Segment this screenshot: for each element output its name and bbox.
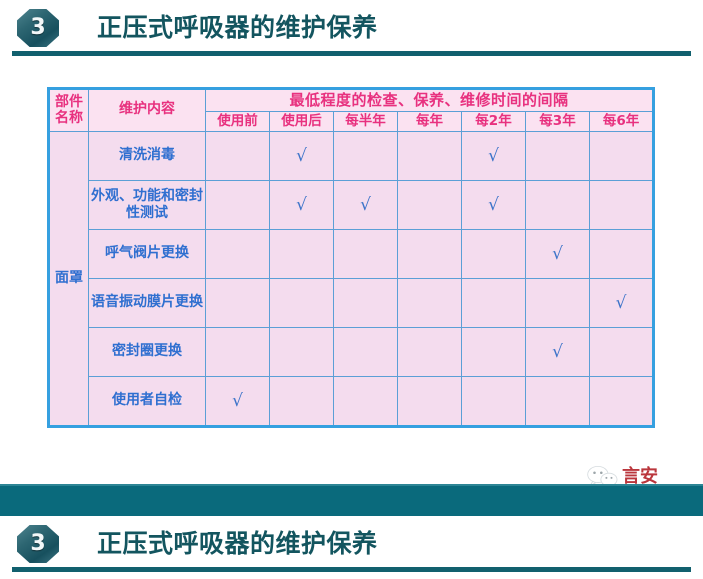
- slide-number-1: 3: [30, 17, 45, 39]
- table-row: 使用者自检 √: [49, 376, 654, 426]
- table-header-row-1: 部件名称 维护内容 最低程度的检查、保养、维修时间的间隔: [49, 89, 654, 112]
- mark-cell-r1c0: [206, 180, 270, 229]
- mark-cell-r1c2: √: [334, 180, 398, 229]
- header-interval-before-use: 使用前: [206, 111, 270, 131]
- header-interval-group: 最低程度的检查、保养、维修时间的间隔: [206, 89, 654, 112]
- maintenance-item: 呼气阀片更换: [89, 229, 206, 278]
- header-interval-every-6-years: 每6年: [590, 111, 654, 131]
- table-row: 面罩 清洗消毒 √ √: [49, 131, 654, 180]
- mark-cell-r2c3: [398, 229, 462, 278]
- mark-cell-r4c0: [206, 327, 270, 376]
- mark-cell-r2c5: √: [526, 229, 590, 278]
- tick-r1c4: √: [488, 195, 499, 215]
- tick-r3c6: √: [616, 293, 627, 313]
- mark-cell-r5c0: √: [206, 376, 270, 426]
- title-underline-2: [12, 567, 691, 572]
- mark-cell-r2c6: [590, 229, 654, 278]
- mark-cell-r0c5: [526, 131, 590, 180]
- slide-title-2: 正压式呼吸器的维护保养: [97, 525, 378, 563]
- slide-header-2: 3 正压式呼吸器的维护保养: [0, 516, 703, 574]
- mark-cell-r4c5: √: [526, 327, 590, 376]
- header-interval-every-year: 每年: [398, 111, 462, 131]
- mark-cell-r3c6: √: [590, 278, 654, 327]
- mark-cell-r3c2: [334, 278, 398, 327]
- tick-r5c0: √: [232, 391, 243, 411]
- mark-cell-r5c2: [334, 376, 398, 426]
- maintenance-item: 使用者自检: [89, 376, 206, 426]
- header-part-name: 部件名称: [49, 89, 89, 132]
- mark-cell-r5c5: [526, 376, 590, 426]
- header-maintenance-content: 维护内容: [89, 89, 206, 132]
- part-name-facepiece: 面罩: [49, 131, 89, 426]
- mark-cell-r1c5: [526, 180, 590, 229]
- mark-cell-r4c1: [270, 327, 334, 376]
- header-interval-half-year: 每半年: [334, 111, 398, 131]
- slide-number-badge-1: 3: [17, 9, 59, 47]
- mark-cell-r0c1: √: [270, 131, 334, 180]
- slide-header-1: 3 正压式呼吸器的维护保养: [0, 0, 703, 58]
- mark-cell-r0c3: [398, 131, 462, 180]
- mark-cell-r5c6: [590, 376, 654, 426]
- tick-r4c5: √: [552, 342, 563, 362]
- mark-cell-r1c1: √: [270, 180, 334, 229]
- mark-cell-r3c5: [526, 278, 590, 327]
- header-interval-every-2-years: 每2年: [462, 111, 526, 131]
- mark-cell-r3c1: [270, 278, 334, 327]
- mark-cell-r0c0: [206, 131, 270, 180]
- tick-r0c1: √: [296, 146, 307, 166]
- mark-cell-r3c3: [398, 278, 462, 327]
- slide-title-1: 正压式呼吸器的维护保养: [97, 9, 378, 47]
- presentation-page: 3 正压式呼吸器的维护保养 部件名称 维护内容 最低程度的检查、保养、维修时间的…: [0, 0, 703, 579]
- header-interval-after-use: 使用后: [270, 111, 334, 131]
- maintenance-item: 密封圈更换: [89, 327, 206, 376]
- title-underline-1: [12, 51, 691, 56]
- tick-r0c4: √: [488, 146, 499, 166]
- mark-cell-r0c4: √: [462, 131, 526, 180]
- slide-number-badge-2: 3: [17, 525, 59, 563]
- header-interval-every-3-years: 每3年: [526, 111, 590, 131]
- mark-cell-r1c3: [398, 180, 462, 229]
- mark-cell-r5c1: [270, 376, 334, 426]
- table-row: 语音振动膜片更换 √: [49, 278, 654, 327]
- table-row: 密封圈更换 √: [49, 327, 654, 376]
- slide-number-2: 3: [30, 533, 45, 555]
- maintenance-table-wrapper: 部件名称 维护内容 最低程度的检查、保养、维修时间的间隔 使用前 使用后 每半年…: [47, 87, 654, 428]
- mark-cell-r4c3: [398, 327, 462, 376]
- tick-r1c2: √: [360, 195, 371, 215]
- table-row: 外观、功能和密封性测试 √ √ √: [49, 180, 654, 229]
- mark-cell-r1c6: [590, 180, 654, 229]
- maintenance-item: 清洗消毒: [89, 131, 206, 180]
- mark-cell-r2c0: [206, 229, 270, 278]
- mark-cell-r2c4: [462, 229, 526, 278]
- maintenance-item: 外观、功能和密封性测试: [89, 180, 206, 229]
- mark-cell-r2c1: [270, 229, 334, 278]
- table-row: 呼气阀片更换 √: [49, 229, 654, 278]
- tick-r1c1: √: [296, 195, 307, 215]
- tick-r2c5: √: [552, 244, 563, 264]
- mark-cell-r5c3: [398, 376, 462, 426]
- maintenance-item: 语音振动膜片更换: [89, 278, 206, 327]
- mark-cell-r0c2: [334, 131, 398, 180]
- slide-divider-band: [0, 484, 703, 516]
- table-head: 部件名称 维护内容 最低程度的检查、保养、维修时间的间隔 使用前 使用后 每半年…: [49, 89, 654, 132]
- mark-cell-r3c0: [206, 278, 270, 327]
- table-body: 面罩 清洗消毒 √ √ 外观、功能和密封性测试 √ √ √: [49, 131, 654, 426]
- mark-cell-r4c6: [590, 327, 654, 376]
- mark-cell-r2c2: [334, 229, 398, 278]
- mark-cell-r3c4: [462, 278, 526, 327]
- mark-cell-r4c4: [462, 327, 526, 376]
- mark-cell-r1c4: √: [462, 180, 526, 229]
- maintenance-table: 部件名称 维护内容 最低程度的检查、保养、维修时间的间隔 使用前 使用后 每半年…: [47, 87, 655, 428]
- mark-cell-r5c4: [462, 376, 526, 426]
- mark-cell-r4c2: [334, 327, 398, 376]
- mark-cell-r0c6: [590, 131, 654, 180]
